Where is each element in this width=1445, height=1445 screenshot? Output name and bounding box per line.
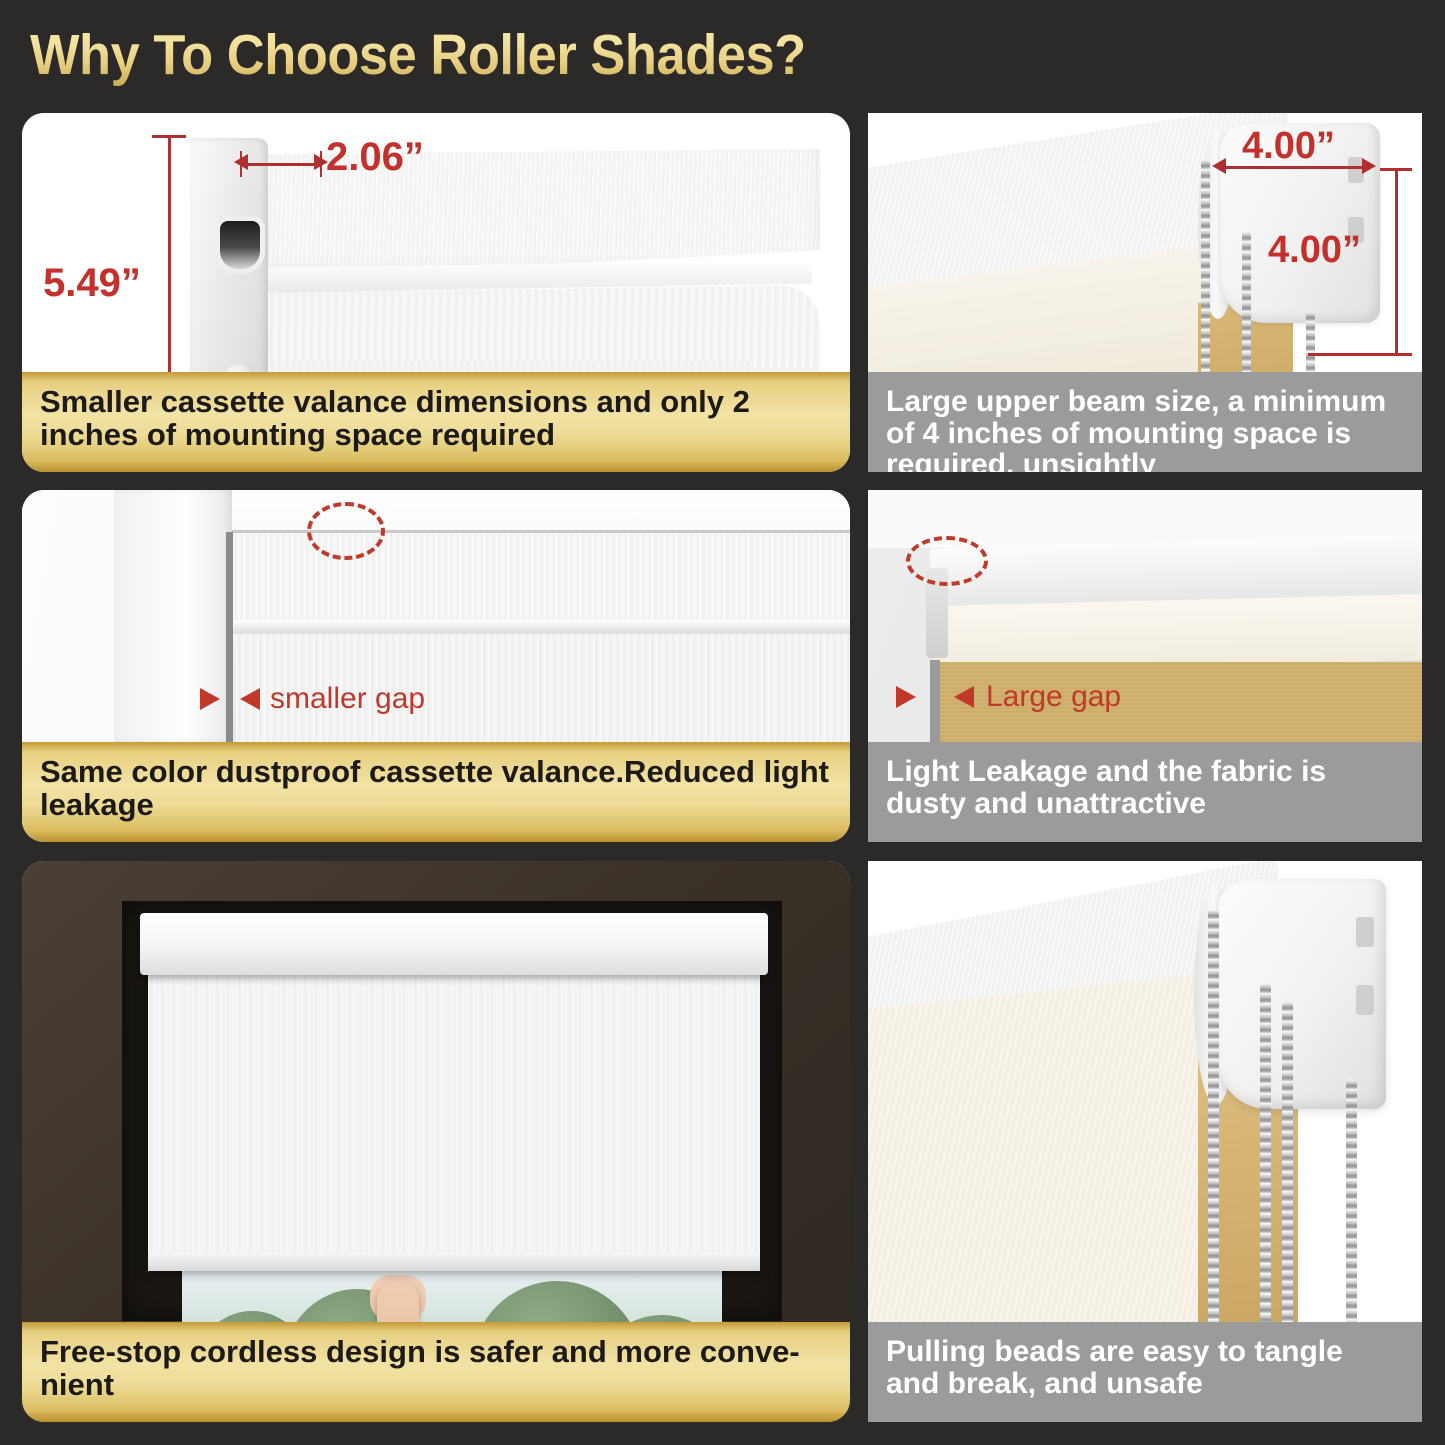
bead-bracket-notch-bottom (1356, 985, 1374, 1015)
height-dim-tick-top (152, 135, 186, 138)
roller-shade-fabric (148, 969, 760, 1269)
shade-bottom-rail (148, 1253, 760, 1271)
bead-chain-mid (1260, 983, 1271, 1333)
beam-width-arrow-right (1362, 158, 1376, 174)
large-gap-label: Large gap (986, 680, 1121, 714)
leak-valance (934, 594, 1422, 672)
width-dim-arrow-left (234, 154, 248, 170)
beam-height-dim-line (1395, 168, 1398, 356)
caption-large-upper-beam: Large upper beam size, a minimum of 4 in… (868, 372, 1422, 472)
caption-dustproof-cassette-valance: Same color dustproof cassette valance.Re… (22, 742, 850, 842)
panel-free-stop-cordless-design: Free-stop cordless design is safer and m… (22, 861, 850, 1422)
leak-highlight-ellipse (906, 536, 988, 586)
side-gap-bar (226, 532, 233, 744)
width-dim-line (240, 163, 322, 166)
panel-pulling-beads: Pulling beads are easy to tangle and bre… (868, 861, 1422, 1422)
leak-gap-arrow-right (896, 686, 916, 708)
gap-highlight-ellipse (307, 502, 385, 560)
infographic-root: Why To Choose Roller Shades? 2.06” 5.49” (0, 0, 1445, 1445)
leak-gap-arrow-left (954, 686, 974, 708)
panel-cassette-valance-dimensions: 2.06” 5.49” Smaller cassette valance dim… (22, 113, 850, 472)
beam-width-dimension-label: 4.00” (1242, 125, 1335, 168)
smaller-gap-label: smaller gap (270, 682, 425, 716)
page-title: Why To Choose Roller Shades? (30, 22, 806, 88)
bead-chain-right (1346, 1079, 1357, 1329)
bead-chain-mid2 (1282, 1001, 1293, 1331)
bead-chain-left (1208, 909, 1219, 1329)
beam-width-arrow-left (1212, 158, 1226, 174)
height-dimension-label: 5.49” (22, 261, 162, 306)
caption-cassette-valance-dimensions: Smaller cassette valance dimensions and … (22, 372, 850, 472)
bead-bracket-notch-top (1356, 917, 1374, 947)
caption-pulling-beads: Pulling beads are easy to tangle and bre… (868, 1322, 1422, 1422)
width-dimension-label: 2.06” (326, 135, 424, 180)
bead-chain-left (1201, 159, 1210, 389)
panel-large-upper-beam: 4.00” 4.00” Large upper beam size, a min… (868, 113, 1422, 472)
valance-slot (220, 221, 260, 269)
caption-free-stop-cordless-design: Free-stop cordless design is safer and m… (22, 1322, 850, 1422)
gap-arrow-left (240, 688, 260, 710)
cassette-valance (140, 913, 768, 975)
beam-height-dimension-label: 4.00” (1268, 229, 1361, 272)
beam-height-tick-bottom (1308, 353, 1412, 356)
gap-arrow-right (200, 688, 220, 710)
shade-mid-rail (230, 620, 850, 634)
beam-height-tick-top (1380, 168, 1412, 171)
bead-chain-mid (1242, 231, 1251, 391)
panel-light-leakage: Large gap Light Leakage and the fabric i… (868, 490, 1422, 842)
panel-dustproof-cassette-valance: smaller gap Same color dustproof cassett… (22, 490, 850, 842)
caption-light-leakage: Light Leakage and the fabric is dusty an… (868, 742, 1422, 842)
